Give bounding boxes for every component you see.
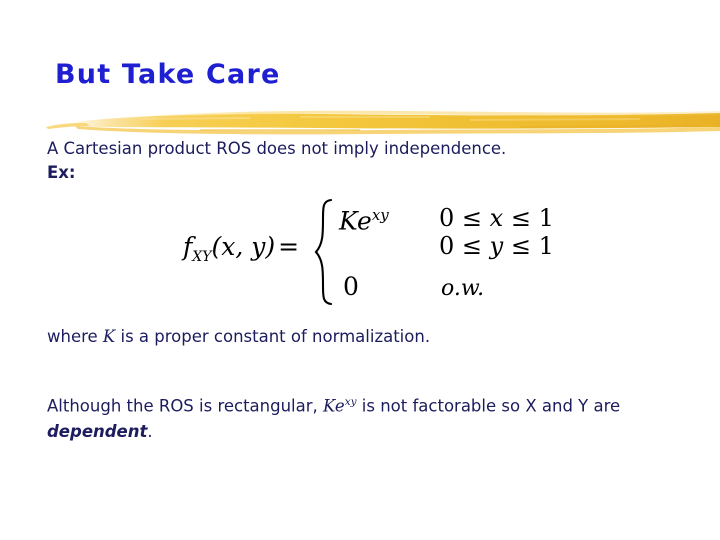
formula-arguments: (x, y) xyxy=(211,232,275,261)
normalization-note: where K is a proper constant of normaliz… xyxy=(47,325,430,348)
case-expression-exponential: Kexy xyxy=(339,206,389,235)
where-suffix: is a proper constant of normalization. xyxy=(115,327,430,346)
cond2-le-second: ≤ xyxy=(503,232,538,260)
case-condition-y-range: 0 ≤ y ≤ 1 xyxy=(439,232,554,260)
case-condition-x-range: 0 ≤ x ≤ 1 xyxy=(439,204,554,232)
conclusion-paragraph: Although the ROS is rectangular, Kexy is… xyxy=(47,390,677,444)
cond2-variable: y xyxy=(490,232,504,260)
intro-statement: A Cartesian product ROS does not imply i… xyxy=(47,137,506,160)
cond2-upper: 1 xyxy=(539,232,554,260)
cond1-variable: x xyxy=(490,204,504,232)
left-curly-brace-icon xyxy=(313,198,335,306)
case1-superscript: xy xyxy=(372,206,389,224)
formula-equals-sign: = xyxy=(278,232,299,261)
case-expression-zero: 0 xyxy=(343,272,359,301)
inline-math-base: Ke xyxy=(323,397,345,416)
cond1-lower: 0 xyxy=(439,204,462,232)
conclusion-part-one: Although the ROS is rectangular, xyxy=(47,397,323,416)
cond1-upper: 1 xyxy=(539,204,554,232)
constant-symbol: K xyxy=(103,327,115,346)
formula-left-hand-side: fXY(x, y)= xyxy=(183,232,299,265)
brush-stroke-decoration xyxy=(0,102,720,138)
page-title: But Take Care xyxy=(55,58,280,92)
inline-math-superscript: xy xyxy=(345,396,357,408)
cond2-le-first: ≤ xyxy=(462,232,490,260)
title-block: But Take Care xyxy=(0,58,720,128)
case1-base: Ke xyxy=(339,206,372,235)
formula-subscript: XY xyxy=(192,249,211,265)
cond2-lower: 0 xyxy=(439,232,462,260)
where-prefix: where xyxy=(47,327,103,346)
case-condition-otherwise: o.w. xyxy=(441,276,484,301)
slide-canvas: But Take Care xyxy=(0,0,720,540)
dependent-emphasis: dependent xyxy=(47,422,147,441)
conclusion-part-three: . xyxy=(147,422,152,441)
conclusion-part-two: is not factorable so X and Y are xyxy=(357,397,621,416)
example-label: Ex: xyxy=(47,161,76,184)
piecewise-density-formula: fXY(x, y)= Kexy 0 0 ≤ x ≤ 1 0 ≤ y ≤ 1 o.… xyxy=(183,196,583,308)
formula-function-symbol: f xyxy=(183,232,192,261)
cond1-le-second: ≤ xyxy=(503,204,538,232)
cond1-le-first: ≤ xyxy=(462,204,490,232)
